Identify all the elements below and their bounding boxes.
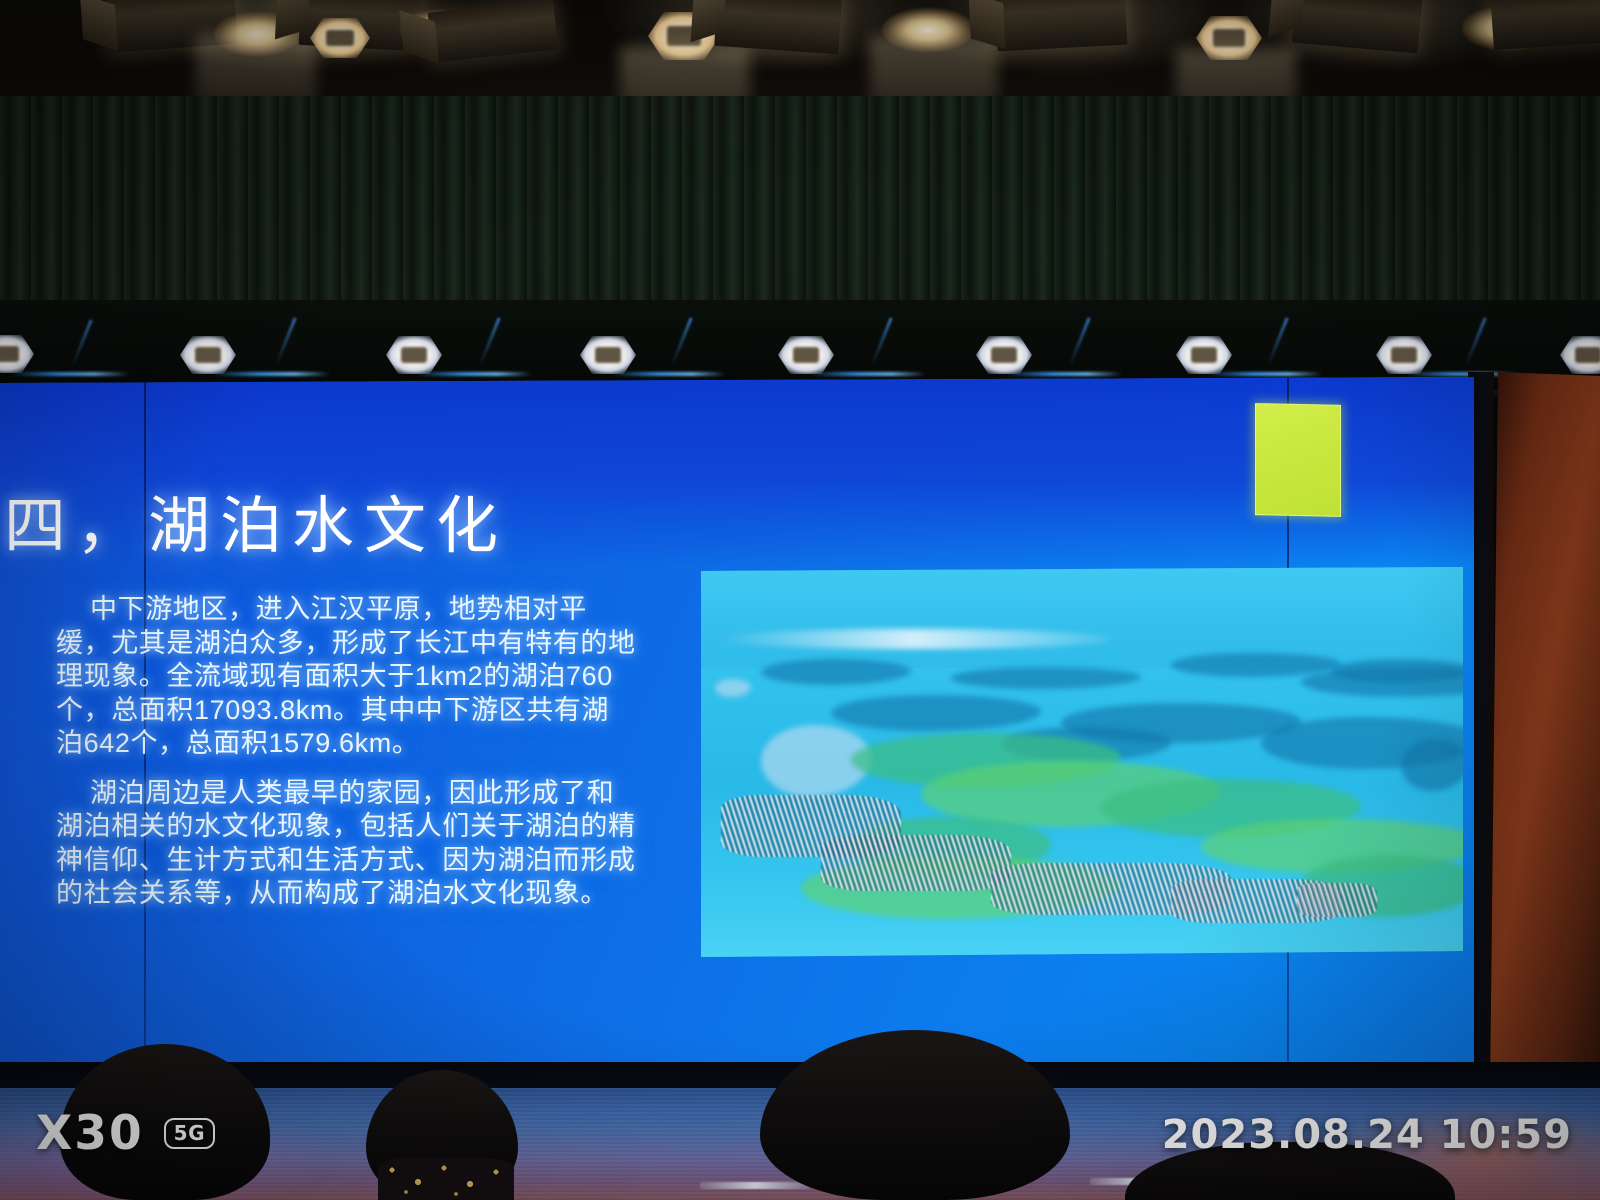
side-wall: [1490, 372, 1600, 1102]
lamp-accent-bar: [1006, 372, 1122, 376]
lamp-accent-bar: [10, 372, 130, 376]
spotlight-fixture: [1490, 0, 1600, 50]
photo-horizon-haze: [716, 629, 1112, 649]
lamp-accent-bar: [612, 372, 726, 376]
watermark-brand-label: X30: [36, 1106, 144, 1161]
slide-paragraph-1: 中下游地区，进入江汉平原，地势相对平缓，尤其是湖泊众多，形成了长江中有特有的地理…: [56, 593, 636, 761]
photo-landmass: [1401, 739, 1463, 791]
watermark-5g-badge: 5G: [164, 1118, 215, 1149]
slide-body-text: 中下游地区，进入江汉平原，地势相对平缓，尤其是湖泊众多，形成了长江中有特有的地理…: [56, 593, 636, 927]
slide-photo-aerial-lakes: [701, 567, 1463, 957]
lamp-accent-bar: [416, 372, 532, 376]
audience-floral-garment: [378, 1158, 514, 1200]
spotlight-fixture: [714, 0, 841, 54]
floor-light-strip: [700, 1182, 810, 1189]
lamp-accent-bar: [810, 372, 926, 376]
slide-title: 四，湖泊水文化: [4, 475, 704, 565]
green-placard: [1255, 403, 1341, 517]
photo-village: [1297, 883, 1377, 917]
led-video-wall[interactable]: 四，湖泊水文化 中下游地区，进入江汉平原，地势相对平缓，尤其是湖泊众多，形成了长…: [0, 377, 1474, 1077]
photo-landmass: [1331, 659, 1463, 683]
lamp-accent-bar: [212, 372, 330, 376]
spotlight-fixture: [995, 0, 1128, 51]
photo-village: [821, 835, 1011, 891]
phone-watermark: X30 5G: [36, 1106, 215, 1161]
watermark-timestamp: 2023.08.24 10:59: [1162, 1112, 1572, 1158]
slide-paragraph-2: 湖泊周边是人类最早的家园，因此形成了和湖泊相关的水文化现象，包括人们关于湖泊的精…: [56, 777, 636, 911]
lamp-accent-bar: [1208, 372, 1322, 376]
stage-photograph: 四，湖泊水文化 中下游地区，进入江汉平原，地势相对平缓，尤其是湖泊众多，形成了长…: [0, 0, 1600, 1200]
